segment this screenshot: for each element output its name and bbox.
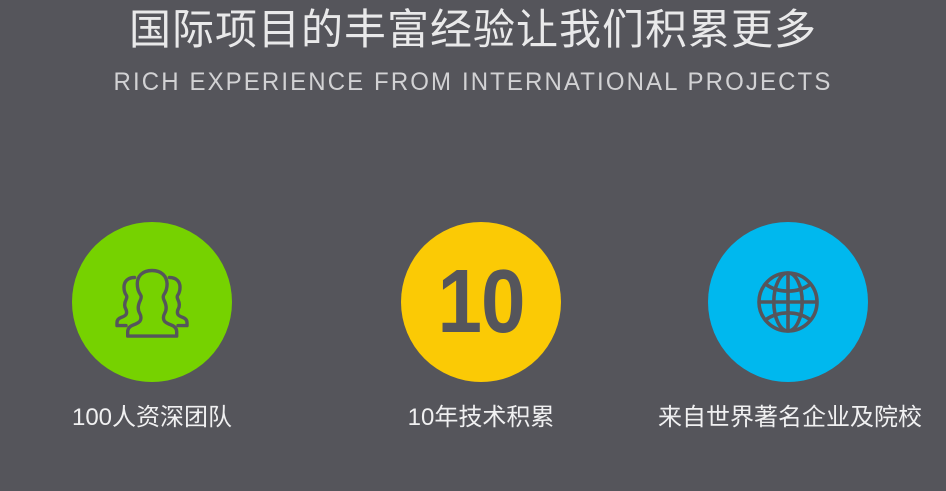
feature-item-origins[interactable]: 来自世界著名企业及院校 [658, 222, 918, 433]
feature-caption-origins: 来自世界著名企业及院校 [658, 382, 918, 433]
feature-circle-origins[interactable] [708, 222, 868, 382]
feature-item-team[interactable]: 100人资深团队 [22, 222, 282, 433]
feature-row: 100人资深团队 10 10年技术积累 [0, 222, 946, 462]
feature-circle-team[interactable] [72, 222, 232, 382]
slide-canvas: 国际项目的丰富经验让我们积累更多 RICH EXPERIENCE FROM IN… [0, 0, 946, 491]
page-subtitle: RICH EXPERIENCE FROM INTERNATIONAL PROJE… [19, 56, 927, 98]
people-group-icon [109, 266, 195, 338]
feature-item-experience[interactable]: 10 10年技术积累 [351, 222, 611, 433]
page-title: 国际项目的丰富经验让我们积累更多 [0, 0, 946, 56]
feature-caption-team: 100人资深团队 [22, 382, 282, 433]
header: 国际项目的丰富经验让我们积累更多 RICH EXPERIENCE FROM IN… [0, 0, 946, 98]
feature-circle-experience[interactable]: 10 [401, 222, 561, 382]
globe-icon [749, 263, 827, 341]
feature-caption-experience: 10年技术积累 [351, 382, 611, 433]
number-ten-icon: 10 [438, 257, 525, 347]
